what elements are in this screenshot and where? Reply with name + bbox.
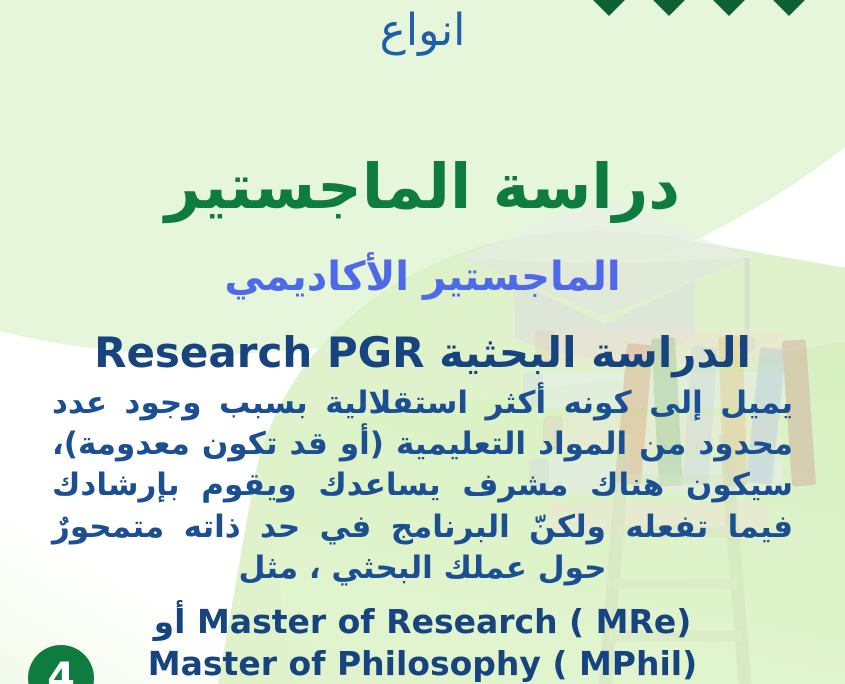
subtitle-academic-masters: الماجستير الأكاديمي: [0, 255, 845, 299]
eyebrow-text: انواع: [0, 8, 845, 54]
body-paragraph: يميل إلى كونه أكثر استقلالية بسبب وجود ع…: [52, 383, 793, 589]
degree-master-of-research: Master of Research ( MRe) أو: [0, 604, 845, 641]
page-title: دراسة الماجستير: [0, 154, 845, 221]
poster-content: انواع دراسة الماجستير الماجستير الأكاديم…: [0, 0, 845, 684]
degree-master-of-philosophy: Master of Philosophy ( MPhil): [0, 646, 845, 683]
infographic-poster: انواع دراسة الماجستير الماجستير الأكاديم…: [0, 0, 845, 684]
section-heading-research-pgr: الدراسة البحثية Research PGR: [0, 330, 845, 376]
